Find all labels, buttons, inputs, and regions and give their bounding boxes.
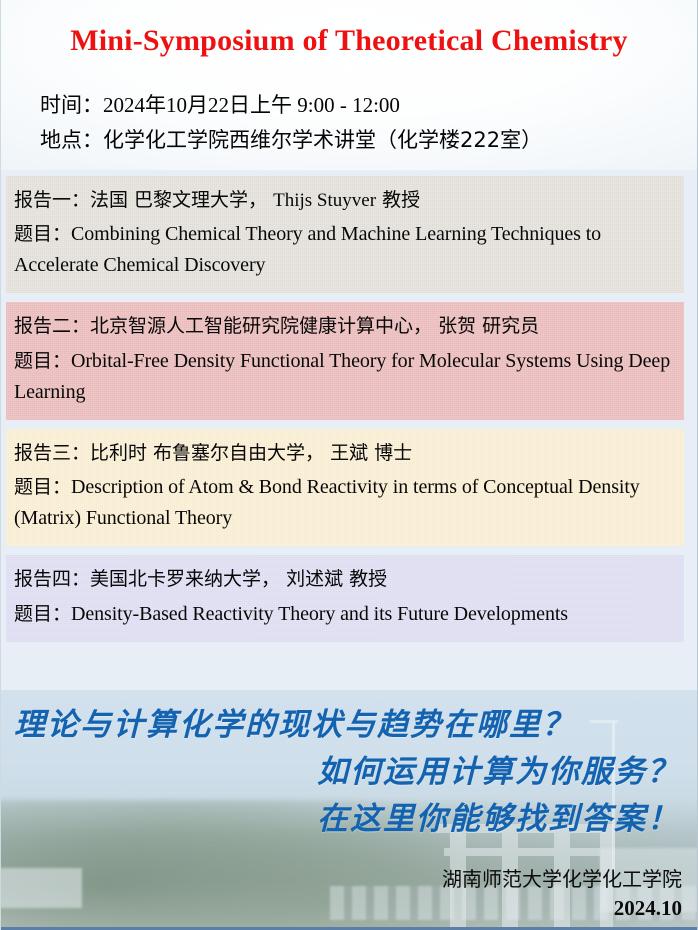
poster-header: Mini-Symposium of Theoretical Chemistry … <box>0 0 698 170</box>
slogan-line-3: 在这里你能够找到答案！ <box>0 796 698 843</box>
talk-speaker-name: Thijs Stuyver <box>273 190 376 211</box>
talk-title-label: 题目： <box>14 603 71 625</box>
talk-index-label: 报告一： <box>14 189 90 211</box>
talk-speaker-rank: 教授 <box>349 568 387 590</box>
slogan-line-2: 如何运用计算为你服务？ <box>0 749 698 796</box>
talk-affiliation: 美国北卡罗来纳大学， <box>90 568 280 590</box>
event-time-line: 时间：2024年10月22日上午 9:00 - 12:00 <box>40 89 400 119</box>
talk-title-text: Density-Based Reactivity Theory and its … <box>71 603 568 625</box>
slogan-line-1: 理论与计算化学的现状与趋势在哪里？ <box>0 702 698 749</box>
talk-speaker-rank: 教授 <box>382 189 420 211</box>
event-place-line: 地点：化学化工学院西维尔学术讲堂（化学楼222室） <box>40 124 542 154</box>
talk-speaker-name: 张贺 <box>438 315 476 337</box>
talk-title-label: 题目： <box>14 223 71 245</box>
talk-item: 报告二：北京智源人工智能研究院健康计算中心， 张贺 研究员 题目：Orbital… <box>6 302 684 419</box>
event-time-value: 2024年10月22日上午 9:00 - 12:00 <box>103 93 400 117</box>
talk-speaker-line: 报告二：北京智源人工智能研究院健康计算中心， 张贺 研究员 <box>14 312 678 341</box>
talk-title-line: 题目：Combining Chemical Theory and Machine… <box>14 219 678 281</box>
talk-speaker-rank: 研究员 <box>482 315 539 337</box>
event-time-label: 时间： <box>40 93 103 117</box>
talk-title-text: Combining Chemical Theory and Machine Le… <box>14 223 601 276</box>
campus-photo-banner: 理论与计算化学的现状与趋势在哪里？ 如何运用计算为你服务？ 在这里你能够找到答案… <box>0 690 698 930</box>
talk-speaker-rank: 博士 <box>374 442 412 464</box>
talk-title-label: 题目： <box>14 350 71 372</box>
talk-affiliation: 比利时 布鲁塞尔自由大学， <box>90 442 324 464</box>
talk-speaker-name: 王斌 <box>330 442 368 464</box>
footer-organization: 湖南师范大学化学化工学院 <box>442 863 682 892</box>
event-place-value: 化学化工学院西维尔学术讲堂（化学楼222室） <box>103 128 542 152</box>
talk-title-line: 题目：Density-Based Reactivity Theory and i… <box>14 599 678 630</box>
talk-index-label: 报告二： <box>14 315 90 337</box>
talk-item: 报告一：法国 巴黎文理大学， Thijs Stuyver 教授 题目：Combi… <box>6 176 684 293</box>
talk-title-line: 题目：Orbital-Free Density Functional Theor… <box>14 346 678 408</box>
talk-item: 报告四：美国北卡罗来纳大学， 刘述斌 教授 题目：Density-Based R… <box>6 555 684 641</box>
talk-index-label: 报告四： <box>14 568 90 590</box>
slogan-block: 理论与计算化学的现状与趋势在哪里？ 如何运用计算为你服务？ 在这里你能够找到答案… <box>0 702 698 843</box>
talk-speaker-line: 报告三：比利时 布鲁塞尔自由大学， 王斌 博士 <box>14 439 678 468</box>
talk-speaker-line: 报告一：法国 巴黎文理大学， Thijs Stuyver 教授 <box>14 186 678 215</box>
page-title: Mini-Symposium of Theoretical Chemistry <box>0 24 698 58</box>
talk-list: 报告一：法国 巴黎文理大学， Thijs Stuyver 教授 题目：Combi… <box>0 176 698 651</box>
talk-title-text: Orbital-Free Density Functional Theory f… <box>14 350 670 403</box>
talk-affiliation: 北京智源人工智能研究院健康计算中心， <box>90 315 432 337</box>
talk-affiliation: 法国 巴黎文理大学， <box>90 189 267 211</box>
talk-index-label: 报告三： <box>14 442 90 464</box>
talk-title-text: Description of Atom & Bond Reactivity in… <box>14 476 640 529</box>
talk-title-line: 题目：Description of Atom & Bond Reactivity… <box>14 472 678 534</box>
talk-speaker-name: 刘述斌 <box>286 568 343 590</box>
event-place-label: 地点： <box>40 128 103 152</box>
footer-date: 2024.10 <box>614 896 682 921</box>
poster: Mini-Symposium of Theoretical Chemistry … <box>0 0 698 930</box>
talk-speaker-line: 报告四：美国北卡罗来纳大学， 刘述斌 教授 <box>14 565 678 594</box>
talk-item: 报告三：比利时 布鲁塞尔自由大学， 王斌 博士 题目：Description o… <box>6 429 684 546</box>
talk-title-label: 题目： <box>14 476 71 498</box>
